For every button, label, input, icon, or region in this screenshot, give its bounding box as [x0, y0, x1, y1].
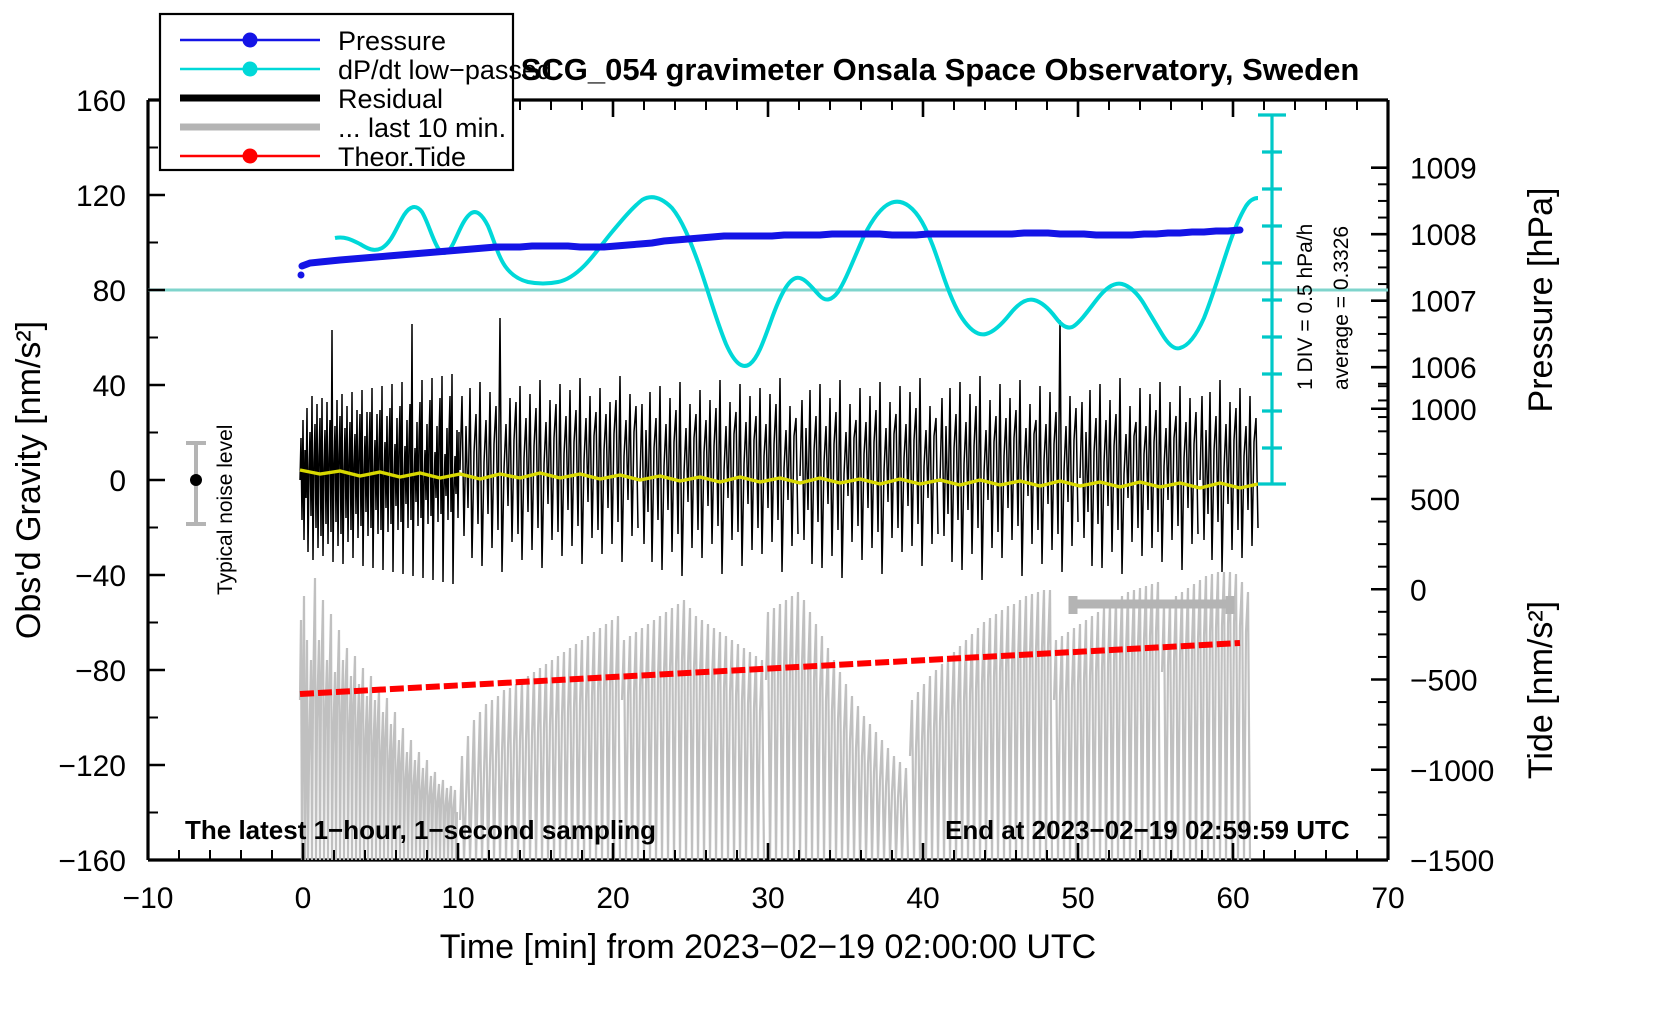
x-tick-label: 20	[596, 882, 629, 915]
y-tick-label: 160	[76, 85, 126, 118]
x-tick-label: 0	[295, 882, 312, 915]
pressure-tick-label: 1007	[1410, 286, 1477, 319]
legend-label: ... last 10 min.	[338, 113, 506, 143]
legend: PressuredP/dt low−passedResidual... last…	[160, 14, 552, 172]
data-traces	[298, 197, 1259, 860]
tide-tick-label: 500	[1410, 484, 1460, 517]
pressure-axis-title: Pressure [hPa]	[1522, 188, 1560, 413]
y-axis-gravity: −160−120−80−4004080120160 Obs'd Gravity …	[10, 85, 165, 878]
x-tick-label: 50	[1061, 882, 1094, 915]
pressure-tick-label: 1006	[1410, 352, 1477, 385]
legend-swatch-marker	[243, 33, 258, 48]
page-title: SCG_054 gravimeter Onsala Space Observat…	[521, 52, 1360, 87]
tide-tick-label: −500	[1410, 665, 1478, 698]
legend-label: Residual	[338, 84, 443, 114]
y-axis-pressure: 1006100710081009 Pressure [hPa]	[1371, 153, 1560, 417]
gravimeter-plot-page: −10010203040506070 Time [min] from 2023−…	[0, 0, 1660, 1020]
typical-noise-label: Typical noise level	[214, 425, 237, 595]
average-label: average = 0.3326	[1330, 226, 1353, 390]
y-tick-label: −160	[58, 845, 126, 878]
y-axis-tide: −1500−1000−50005001000 Tide [nm/s²]	[1371, 386, 1560, 878]
trace-pressure	[302, 230, 1240, 266]
tide-tick-label: −1500	[1410, 845, 1494, 878]
y-tick-label: 0	[109, 465, 126, 498]
x-tick-label: 40	[906, 882, 939, 915]
pressure-tick-label: 1009	[1410, 153, 1477, 186]
pressure-outlier-point	[298, 272, 305, 279]
tide-tick-label: 1000	[1410, 394, 1477, 427]
y-tick-label: −40	[75, 560, 126, 593]
pressure-tick-label: 1008	[1410, 219, 1477, 252]
y-tick-label: 40	[93, 370, 126, 403]
div-scale-label: 1 DIV = 0.5 hPa/h	[1294, 224, 1317, 390]
y-tick-label: 120	[76, 180, 126, 213]
x-tick-label: 70	[1371, 882, 1404, 915]
x-tick-label: 30	[751, 882, 784, 915]
gravimeter-chart: −10010203040506070 Time [min] from 2023−…	[0, 0, 1660, 1020]
legend-swatch-marker	[243, 149, 258, 164]
legend-label: dP/dt low−passed	[338, 55, 552, 85]
x-tick-label: 10	[441, 882, 474, 915]
tide-tick-label: 0	[1410, 574, 1427, 607]
y-axis-title: Obs'd Gravity [nm/s²]	[10, 321, 48, 639]
dpdt-scale-bar	[1258, 115, 1286, 484]
sampling-note: The latest 1−hour, 1−second sampling	[185, 815, 656, 845]
typical-noise-marker	[186, 443, 206, 524]
legend-label: Pressure	[338, 26, 446, 56]
x-tick-label: −10	[123, 882, 174, 915]
y-tick-label: −120	[58, 750, 126, 783]
end-time-note: End at 2023−02−19 02:59:59 UTC	[945, 815, 1350, 845]
trace-residual	[300, 318, 1258, 584]
legend-swatch-marker	[243, 62, 258, 77]
trace-dpdt-lowpassed	[335, 197, 1258, 366]
legend-label: Theor.Tide	[338, 142, 466, 172]
x-tick-label: 60	[1216, 882, 1249, 915]
tide-tick-label: −1000	[1410, 755, 1494, 788]
y-tick-label: −80	[75, 655, 126, 688]
tide-axis-title: Tide [nm/s²]	[1522, 601, 1560, 779]
y-tick-label: 80	[93, 275, 126, 308]
x-axis-title: Time [min] from 2023−02−19 02:00:00 UTC	[440, 928, 1096, 966]
